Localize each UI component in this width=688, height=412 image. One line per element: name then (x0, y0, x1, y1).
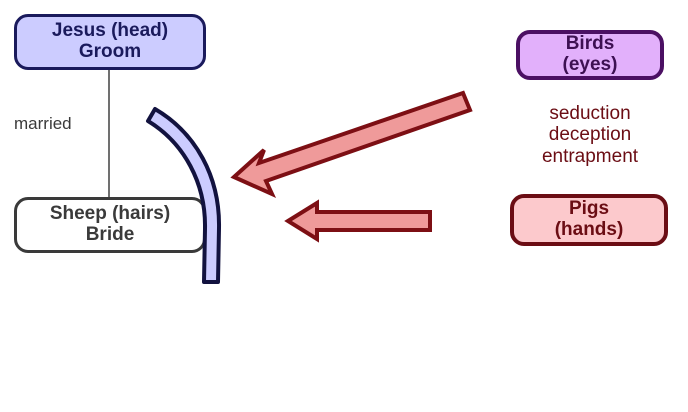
node-pigs-hands-line2: (hands) (555, 220, 624, 241)
node-pigs-hands-line1: Pigs (569, 199, 609, 220)
node-jesus-groom-line1: Jesus (head) (52, 21, 168, 42)
node-birds-eyes-line2: (eyes) (563, 55, 618, 76)
married-connector-line (108, 70, 110, 200)
node-birds-eyes[interactable]: Birds (eyes) (516, 30, 664, 80)
node-sheep-bride-line1: Sheep (hairs) (50, 204, 170, 225)
node-pigs-hands[interactable]: Pigs (hands) (510, 194, 668, 246)
diagram-canvas: married Jesus (head) Groom Sheep (hairs)… (0, 0, 688, 412)
node-birds-eyes-line1: Birds (566, 34, 615, 55)
node-jesus-groom-line2: Groom (79, 42, 141, 63)
attack-methods-label: seduction deception entrapment (508, 103, 672, 167)
node-jesus-groom[interactable]: Jesus (head) Groom (14, 14, 206, 70)
node-sheep-bride[interactable]: Sheep (hairs) Bride (14, 197, 206, 253)
seduction-attack-arrow (234, 93, 470, 194)
pigs-attack-arrow (288, 203, 430, 239)
protective-arc (148, 109, 219, 282)
married-label: married (14, 114, 72, 134)
node-sheep-bride-line2: Bride (86, 225, 135, 246)
